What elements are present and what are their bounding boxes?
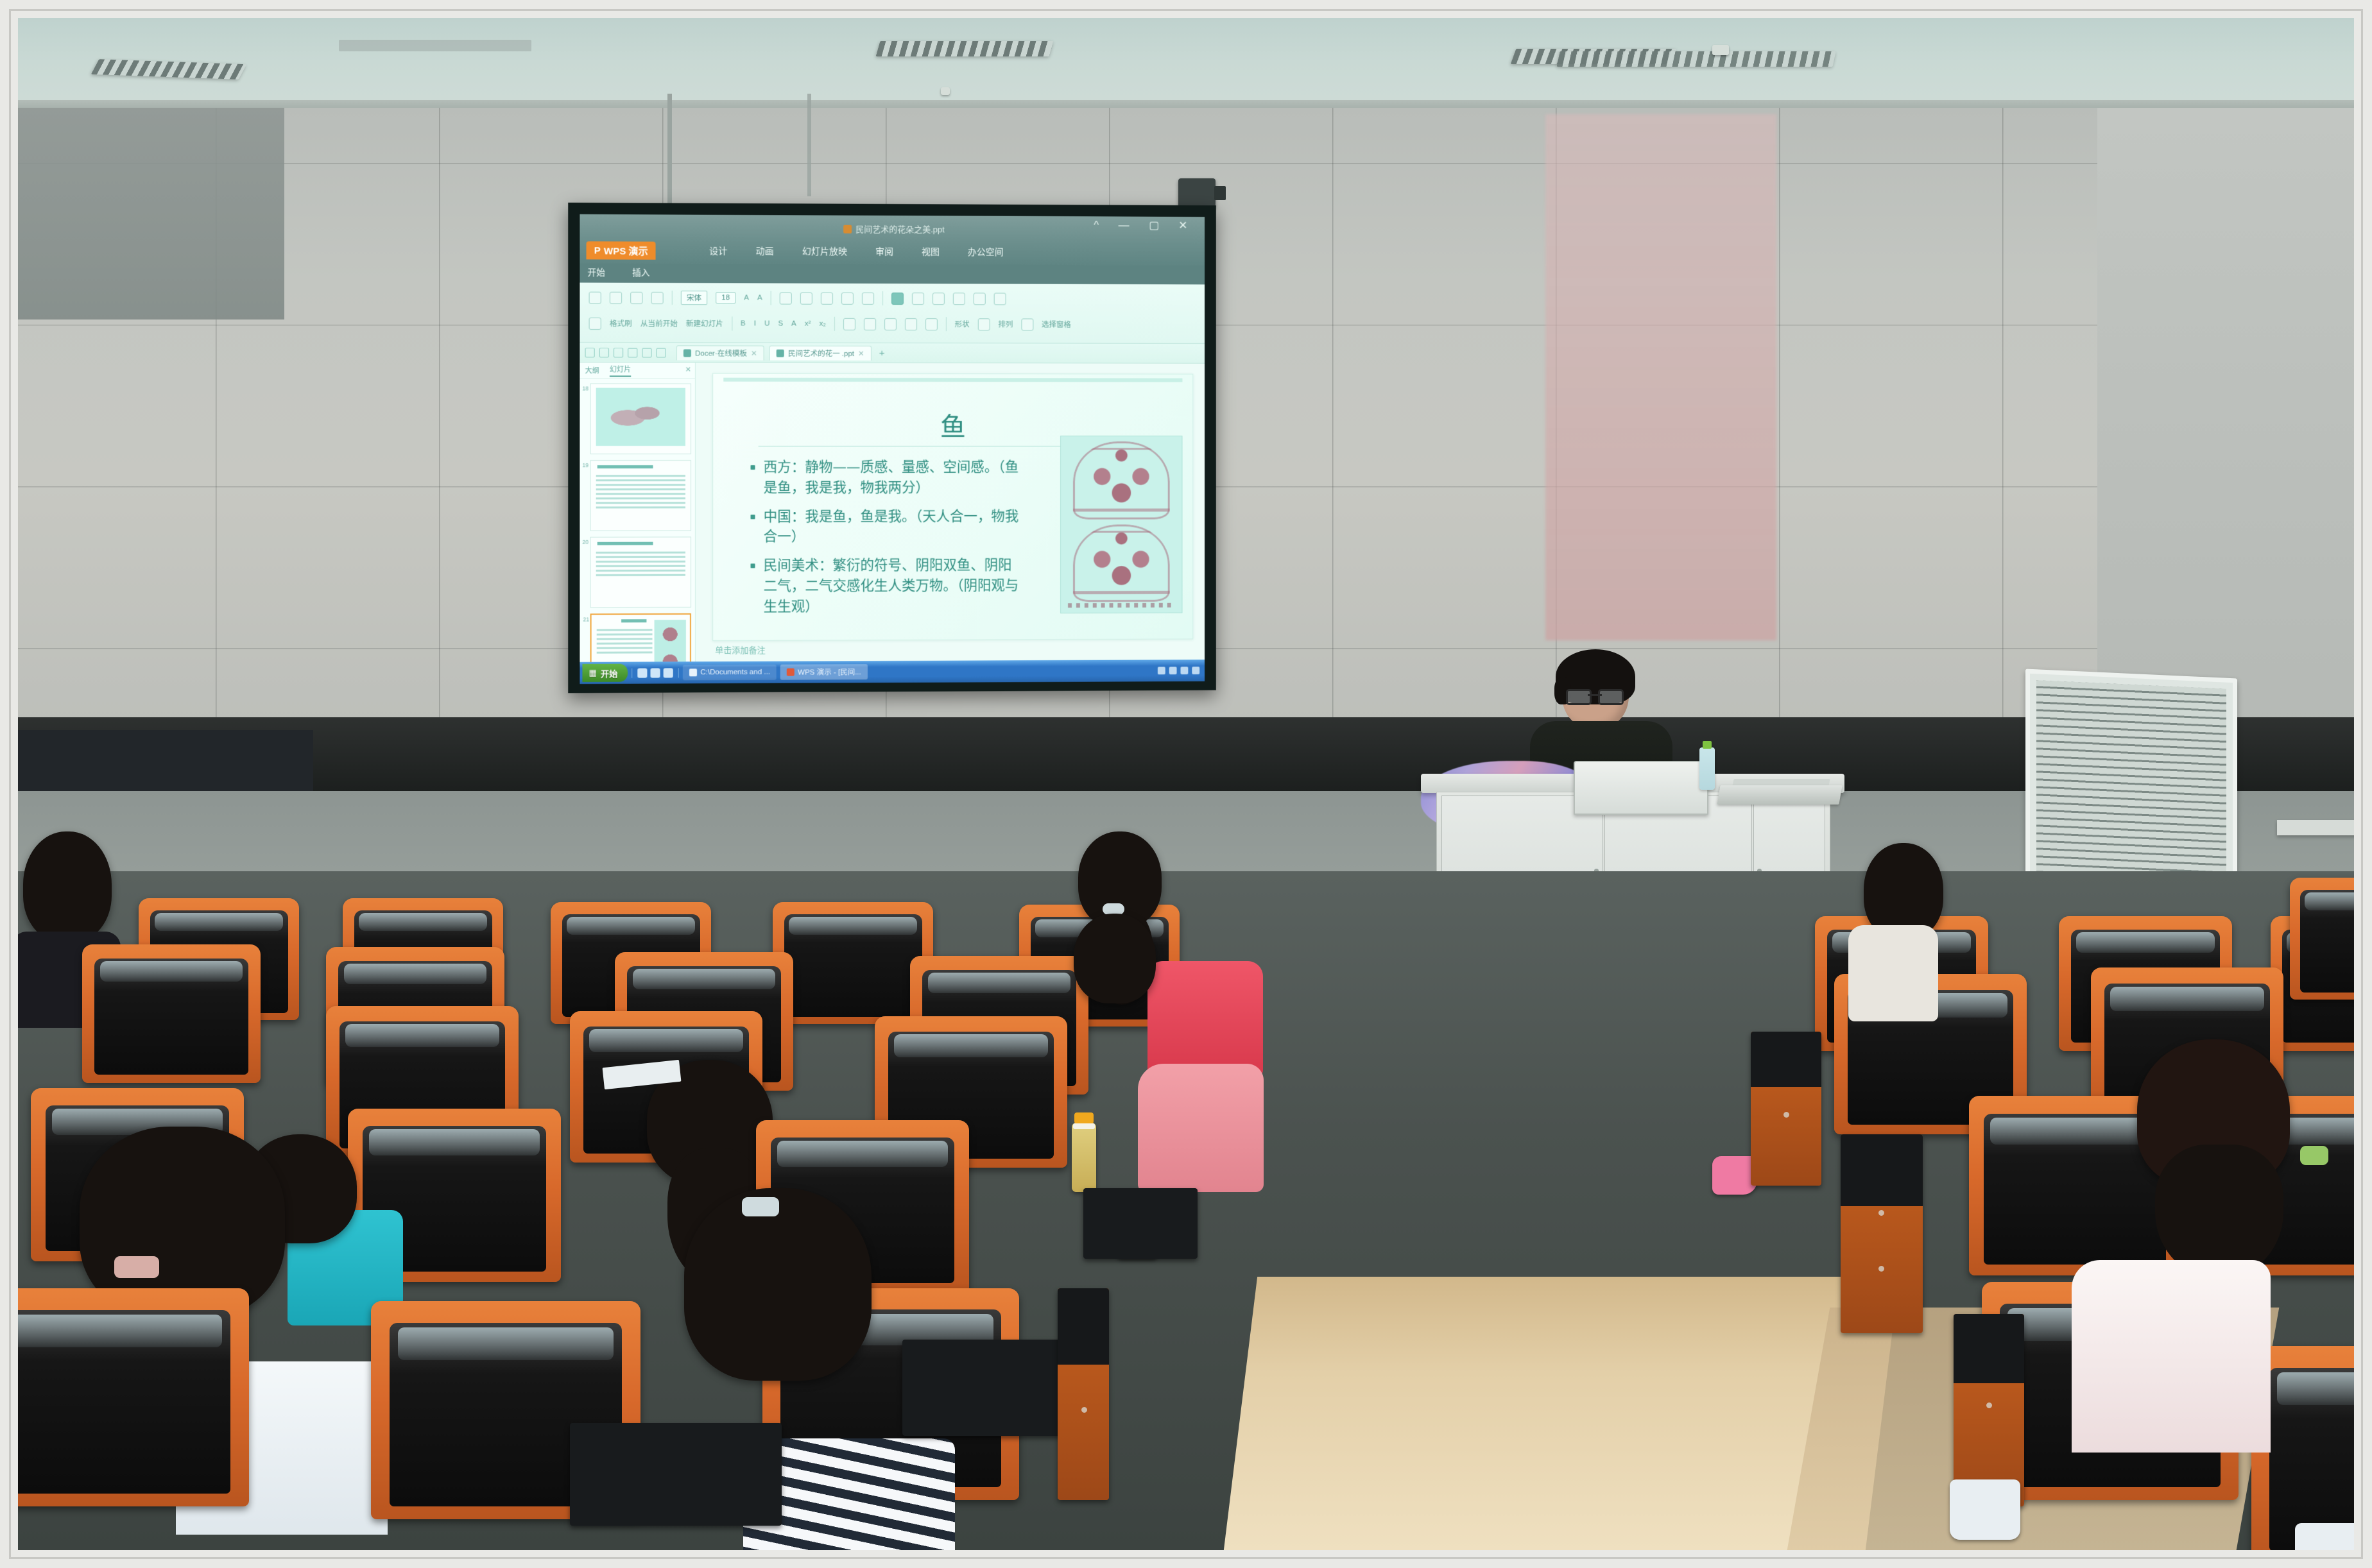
quick-launch-bar[interactable] (632, 668, 680, 677)
slide-decor-bar (723, 378, 1182, 382)
wps-ribbon[interactable]: 宋体 18 A A (580, 283, 1205, 344)
arrange-group-label[interactable]: 排列 (998, 319, 1013, 329)
slide-editor-pane[interactable]: 鱼 西方：静物——质感、量感、空间感。（鱼是鱼，我是我，物我两分） 中国：我是鱼… (696, 363, 1205, 684)
menu-item-review[interactable]: 审阅 (875, 245, 893, 258)
slide-thumbnail[interactable]: 19 (590, 460, 691, 531)
seat-armrest[interactable] (1058, 1288, 1109, 1500)
ceiling-conduit-left (667, 94, 672, 217)
laptop-lid (1574, 761, 1708, 815)
projection-screen: 民间艺术的花朵之美.ppt ^ — ▢ ✕ 未登录 PWPS 演示 设计 动画 (568, 203, 1216, 693)
presenter-glasses (1566, 689, 1624, 702)
system-tray[interactable] (1158, 667, 1205, 674)
underline-button[interactable]: U (764, 320, 769, 328)
thumbnail-body-lines (597, 629, 653, 656)
line-spacing-icon[interactable] (862, 292, 874, 304)
thumbnail-title-bar (597, 465, 653, 468)
current-slide[interactable]: 鱼 西方：静物——质感、量感、空间感。（鱼是鱼，我是我，物我两分） 中国：我是鱼… (712, 373, 1193, 641)
menu-item-view[interactable]: 视图 (922, 245, 940, 258)
arrange-icon[interactable] (932, 293, 945, 305)
slide-thumbnail[interactable]: 20 (590, 537, 691, 608)
wps-document-title: 民间艺术的花朵之美.ppt (843, 222, 945, 235)
slide-bullet-list[interactable]: 西方：静物——质感、量感、空间感。（鱼是鱼，我是我，物我两分） 中国：我是鱼，鱼… (749, 457, 1025, 626)
format-painter-icon[interactable] (589, 317, 601, 329)
ceiling-light-far-right (876, 41, 1054, 56)
windows-taskbar[interactable]: ▦ 开始 C:\Documents and ... (580, 660, 1205, 684)
doc-tab-presentation[interactable]: 民间艺术的花一 .ppt ✕ (769, 345, 872, 360)
selection-pane-icon[interactable] (994, 293, 1006, 305)
start-button[interactable]: ▦ 开始 (582, 664, 628, 682)
doc-tab-templates-label: Docer·在线模板 (695, 348, 747, 358)
selection-pane-label[interactable]: 选择窗格 (1042, 320, 1071, 330)
align-center-icon[interactable] (864, 318, 876, 330)
wall-dark-baseboard (18, 717, 2354, 801)
notes-placeholder[interactable]: 单击添加备注 (715, 642, 1192, 661)
thumbnail-number: 19 (582, 462, 589, 468)
taskbar-item-wps[interactable]: WPS 演示 - [民间... (780, 664, 868, 680)
thumbnail-number: 21 (583, 616, 589, 622)
paste-icon[interactable] (630, 291, 642, 303)
ppt-tab-icon (777, 349, 784, 357)
from-start-label[interactable]: 从当前开始 (640, 318, 678, 328)
seat-writing-tablet[interactable] (1083, 1188, 1198, 1259)
new-slide-label[interactable]: 新建幻灯片 (686, 318, 723, 328)
menu-item-workspace[interactable]: 办公空间 (968, 245, 1004, 258)
print-icon[interactable] (614, 348, 623, 357)
thumbnail-title-bar (621, 619, 647, 622)
fish-papercut-art (608, 397, 673, 433)
shrink-font-icon[interactable]: A (757, 294, 762, 302)
student-head (1074, 914, 1156, 1003)
seat[interactable] (773, 902, 933, 1024)
close-icon[interactable]: ✕ (858, 348, 864, 357)
wps-workspace: 大纲 幻灯片 ✕ 18 (580, 362, 1205, 684)
seat-armrest[interactable] (1954, 1314, 2024, 1506)
white-sneaker (1950, 1479, 2020, 1540)
projected-image: 民间艺术的花朵之美.ppt ^ — ▢ ✕ 未登录 PWPS 演示 设计 动画 (580, 214, 1205, 684)
white-sneaker (2295, 1523, 2354, 1550)
align-right-icon[interactable] (884, 318, 897, 330)
superscript-button[interactable]: x² (805, 320, 811, 328)
indent-increase-icon[interactable] (841, 292, 854, 304)
ribbon-divider-2 (771, 291, 771, 305)
ceiling-light-right (1556, 51, 1835, 67)
tray-security-icon[interactable] (1180, 667, 1188, 674)
start-button-label: 开始 (601, 667, 617, 679)
ceiling-sprinkler (941, 87, 950, 95)
ceiling-conduit-right (807, 94, 811, 196)
ribbon-divider-3 (882, 291, 883, 305)
lecture-hall-scene: 民间艺术的花朵之美.ppt ^ — ▢ ✕ 未登录 PWPS 演示 设计 动画 (18, 18, 2354, 1550)
smoke-detector (1712, 45, 1729, 55)
new-slide-icon[interactable] (651, 291, 663, 303)
ribbon-divider-1 (672, 291, 673, 305)
student-hair-long (2155, 1145, 2283, 1279)
menu-item-insert[interactable]: 插入 (632, 266, 649, 278)
customize-chevron-icon[interactable] (657, 348, 666, 357)
student-torso (1138, 1064, 1264, 1192)
menu-item-slideshow[interactable]: 幻灯片放映 (802, 244, 847, 257)
arrange-gallery-icon[interactable] (1021, 318, 1033, 330)
slide-bullet-1[interactable]: 西方：静物——质感、量感、空间感。（鱼是鱼，我是我，物我两分） (749, 457, 1025, 499)
wall-color-patch (1545, 114, 1776, 640)
seat-armrest[interactable] (1841, 1134, 1923, 1333)
find-icon[interactable] (974, 293, 986, 305)
docer-icon (683, 349, 691, 357)
slide-navigator-pane[interactable]: 大纲 幻灯片 ✕ 18 (580, 362, 696, 684)
tray-volume-icon[interactable] (1169, 667, 1177, 674)
side-table (2277, 820, 2354, 835)
seat[interactable] (18, 1288, 249, 1506)
ribbon-divider-5 (834, 317, 835, 331)
font-size-box[interactable]: 18 (716, 292, 735, 303)
window-controls[interactable]: ^ — ▢ ✕ (1094, 219, 1196, 232)
wps-presentation-window[interactable]: 民间艺术的花朵之美.ppt ^ — ▢ ✕ 未登录 PWPS 演示 设计 动画 (580, 214, 1205, 684)
seat[interactable] (82, 944, 261, 1083)
shape-fill-icon[interactable] (891, 292, 904, 304)
ribbon-row-bottom[interactable]: 格式刷 从当前开始 新建幻灯片 B I U S A x² x₂ (589, 316, 1071, 332)
new-tab-button[interactable]: + (877, 347, 885, 358)
wps-tab-row: 开始 插入 (580, 263, 1205, 284)
ribbon-divider-4 (732, 316, 732, 330)
wps-logo-mark: P (594, 245, 601, 256)
folder-icon (689, 669, 697, 676)
save-icon[interactable] (599, 348, 609, 357)
align-icon[interactable] (953, 293, 965, 305)
cut-icon[interactable] (589, 291, 601, 303)
wps-taskbar-icon (787, 669, 795, 676)
papercut-caption (1068, 602, 1174, 607)
taskbar-item-explorer-label: C:\Documents and ... (700, 669, 770, 676)
undo-icon[interactable] (628, 348, 637, 357)
quick-access-toolbar[interactable] (585, 348, 666, 357)
doc-tab-presentation-label: 民间艺术的花一 .ppt (788, 348, 854, 358)
show-desktop-icon[interactable] (664, 668, 673, 677)
laptop (1574, 761, 1708, 815)
ppt-file-icon (843, 225, 852, 233)
papercut-motif-top (1073, 441, 1170, 519)
papercut-motif-bottom (1073, 524, 1170, 602)
subscript-button[interactable]: x₂ (820, 320, 826, 328)
hair-tie (742, 1197, 779, 1216)
open-file-icon[interactable] (585, 348, 595, 357)
student-head (23, 831, 112, 942)
tray-ime-icon[interactable] (1192, 667, 1199, 674)
font-color-button[interactable]: A (791, 320, 796, 328)
thumbnail-image (596, 388, 685, 445)
hair-scrunchie (114, 1256, 159, 1278)
italic-button[interactable]: I (754, 320, 756, 327)
thumbnail-number: 20 (582, 539, 589, 545)
student-torso (2072, 1260, 2271, 1453)
grow-font-icon[interactable]: A (744, 294, 749, 302)
drink-bottle[interactable] (1072, 1123, 1096, 1192)
shape-gallery-icon[interactable] (978, 318, 990, 330)
student-torso (1848, 925, 1938, 1021)
ceiling-panel-1 (339, 40, 531, 51)
tab-slides[interactable]: 幻灯片 (610, 364, 631, 377)
justify-icon[interactable] (905, 318, 917, 330)
align-left-icon[interactable] (843, 318, 855, 330)
slide-thumbnail[interactable]: 18 (590, 383, 691, 454)
font-name-box[interactable]: 宋体 (681, 291, 707, 305)
tray-network-icon[interactable] (1158, 667, 1165, 674)
shape-outline-icon[interactable] (912, 293, 924, 305)
wps-logo[interactable]: PWPS 演示 (587, 241, 656, 260)
menu-item-animation[interactable]: 动画 (756, 244, 774, 257)
wps-menu-lower[interactable]: 开始 插入 (588, 265, 650, 278)
seat-writing-tablet[interactable] (570, 1423, 782, 1526)
thumbnail-list[interactable]: 18 19 (580, 379, 695, 684)
seat-armrest[interactable] (1751, 1032, 1821, 1186)
bold-button[interactable]: B (741, 320, 746, 327)
ribbon-divider-6 (946, 317, 947, 331)
thumbnail-number: 18 (582, 385, 589, 391)
student-torso (1147, 961, 1263, 1077)
hair-clip (2300, 1146, 2328, 1165)
wps-title-bar: 民间艺术的花朵之美.ppt ^ — ▢ ✕ (580, 214, 1205, 243)
slide-bullet-2[interactable]: 中国：我是鱼，鱼是我。（天人合一，物我合一） (749, 506, 1025, 547)
slide-bullet-3[interactable]: 民间美术：繁衍的符号、阴阳双鱼、阴阳二气，二气交感化生人类万物。（阴阳观与生生观… (749, 556, 1025, 618)
wall-mounted-speaker (1178, 178, 1216, 208)
doc-tab-templates[interactable]: Docer·在线模板 ✕ (676, 345, 764, 360)
bullet-list-icon[interactable] (780, 292, 792, 304)
thumbnail-title-bar (597, 542, 653, 545)
number-list-icon[interactable] (800, 292, 812, 304)
shape-group-label[interactable]: 形状 (955, 319, 970, 329)
vent-slats (2036, 680, 2226, 901)
slide-papercut-image[interactable] (1060, 436, 1182, 613)
presenter-water-bottle (1699, 747, 1715, 790)
windows-flag-icon: ▦ (589, 668, 597, 678)
browser-icon[interactable] (638, 668, 648, 677)
wps-menu-upper[interactable]: 设计 动画 幻灯片放映 审阅 视图 办公空间 (709, 244, 1003, 259)
menu-item-design[interactable]: 设计 (709, 244, 727, 257)
wps-brand-row: PWPS 演示 设计 动画 幻灯片放映 审阅 视图 办公空间 (580, 240, 1205, 265)
photograph-canvas: 民间艺术的花朵之美.ppt ^ — ▢ ✕ 未登录 PWPS 演示 设计 动画 (0, 0, 2372, 1568)
strikethrough-button[interactable]: S (778, 320, 783, 328)
wall-left-shadow-panel (18, 108, 284, 320)
taskbar-item-explorer[interactable]: C:\Documents and ... (683, 665, 777, 681)
close-pane-icon[interactable]: ✕ (685, 366, 691, 374)
thumbnail-body-lines (596, 552, 685, 579)
taskbar-item-wps-label: WPS 演示 - [民间... (798, 667, 861, 677)
ribbon-row-top[interactable]: 宋体 18 A A (589, 291, 1006, 306)
format-painter-label[interactable]: 格式刷 (610, 318, 632, 328)
media-player-icon[interactable] (651, 668, 660, 677)
copy-icon[interactable] (610, 291, 622, 303)
student-head (684, 1188, 872, 1381)
seat[interactable] (2290, 878, 2354, 1000)
papers-stack (1717, 785, 1842, 805)
redo-icon[interactable] (642, 348, 651, 357)
indent-decrease-icon[interactable] (821, 292, 833, 304)
tab-outline[interactable]: 大纲 (585, 365, 599, 375)
wps-document-tabstrip[interactable]: Docer·在线模板 ✕ 民间艺术的花一 .ppt ✕ + (580, 343, 1205, 364)
presenter (1538, 654, 1666, 776)
thumbnail-body-lines (596, 475, 685, 511)
columns-icon[interactable] (925, 318, 938, 330)
navigator-tabs[interactable]: 大纲 幻灯片 (580, 362, 695, 379)
wall-right-column (2097, 108, 2354, 737)
seat-writing-tablet[interactable] (902, 1340, 1069, 1436)
close-icon[interactable]: ✕ (751, 348, 757, 357)
menu-item-home[interactable]: 开始 (588, 265, 605, 278)
